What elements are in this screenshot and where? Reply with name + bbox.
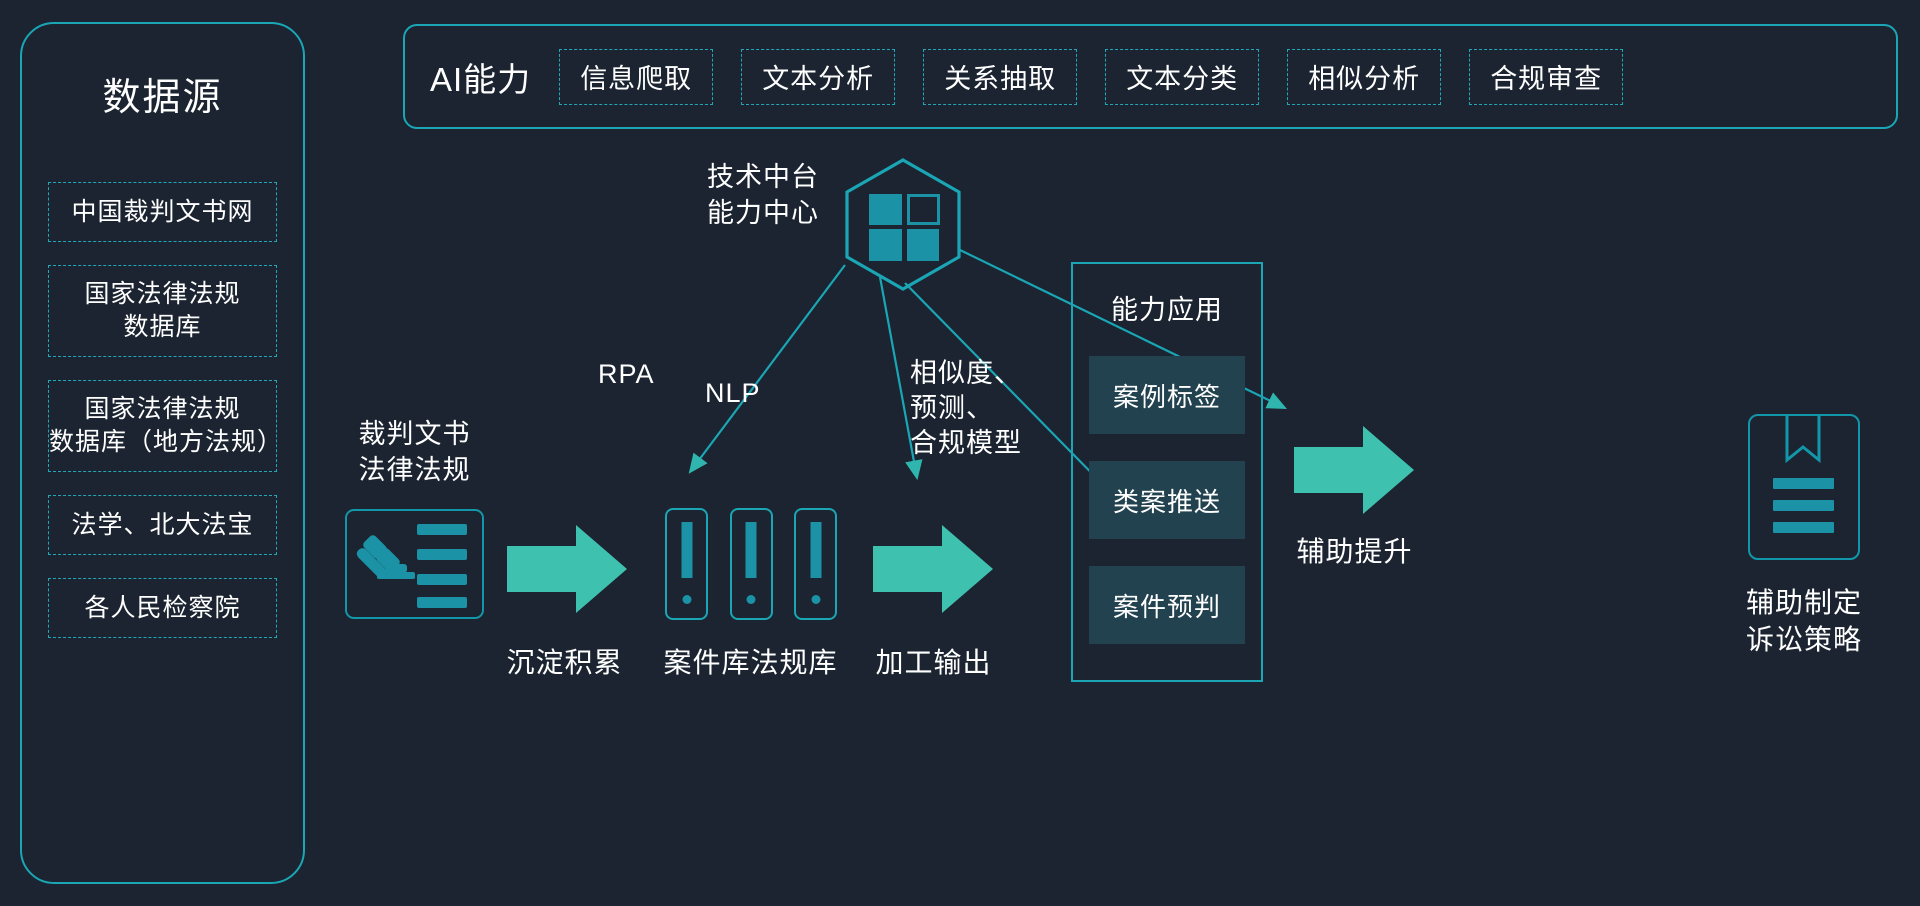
ai-capability-bar: AI能力 信息爬取 文本分析 关系抽取 文本分类 相似分析 合规审查 <box>403 24 1898 129</box>
datasource-panel: 数据源 中国裁判文书网 国家法律法规 数据库 国家法律法规 数据库（地方法规） … <box>20 22 305 884</box>
ai-chip-relation-extraction[interactable]: 关系抽取 <box>923 49 1077 105</box>
edge-label-rpa: RPA <box>598 357 655 392</box>
gavel-document-icon <box>345 509 484 619</box>
server-unit <box>665 508 708 620</box>
datasource-item-label: 国家法律法规 数据库（地方法规） <box>49 393 276 459</box>
list-item[interactable]: 法学、北大法宝 <box>48 495 277 555</box>
server-led <box>811 595 820 604</box>
edge-label-nlp: NLP <box>705 376 761 411</box>
ai-chip-similarity-analysis[interactable]: 相似分析 <box>1287 49 1441 105</box>
ai-chip-text-classification[interactable]: 文本分类 <box>1105 49 1259 105</box>
capability-item-case-tag[interactable]: 案例标签 <box>1089 356 1245 434</box>
list-item[interactable]: 国家法律法规 数据库（地方法规） <box>48 380 277 472</box>
datasource-item-label: 各人民检察院 <box>84 592 240 625</box>
capability-item-similar-case-push[interactable]: 类案推送 <box>1089 461 1245 539</box>
list-item[interactable]: 各人民检察院 <box>48 578 277 638</box>
datasource-item-label: 中国裁判文书网 <box>71 196 253 229</box>
capability-title: 能力应用 <box>1073 288 1261 327</box>
datasource-list: 中国裁判文书网 国家法律法规 数据库 国家法律法规 数据库（地方法规） 法学、北… <box>48 182 277 661</box>
server-unit <box>730 508 773 620</box>
arrow3-caption: 辅助提升 <box>1277 530 1432 570</box>
bookmark-document-icon <box>1748 414 1860 560</box>
arrow1-caption: 沉淀积累 <box>487 641 642 681</box>
stage2-caption: 案件库法规库 <box>648 641 853 681</box>
server-bar <box>810 522 821 578</box>
server-rack-icon <box>665 508 837 620</box>
ai-capability-title: AI能力 <box>430 53 531 101</box>
stage1-caption: 裁判文书 法律法规 <box>345 417 484 489</box>
capability-item-case-prediction[interactable]: 案件预判 <box>1089 566 1245 644</box>
hexagon-grid-icon <box>843 157 963 292</box>
capability-application-panel: 能力应用 案例标签 类案推送 案件预判 <box>1071 262 1263 682</box>
server-led <box>747 595 756 604</box>
datasource-item-label: 国家法律法规 数据库 <box>84 278 240 344</box>
server-bar <box>681 522 692 578</box>
diagram-canvas: 数据源 中国裁判文书网 国家法律法规 数据库 国家法律法规 数据库（地方法规） … <box>0 0 1920 906</box>
edge-label-similarity: 相似度、 预测、 合规模型 <box>910 356 1022 461</box>
arrow2-caption: 加工输出 <box>856 641 1011 681</box>
tech-hub-label: 技术中台 能力中心 <box>688 160 838 232</box>
server-bar <box>746 522 757 578</box>
datasource-title: 数据源 <box>22 66 303 121</box>
ai-chip-compliance-review[interactable]: 合规审查 <box>1469 49 1623 105</box>
server-led <box>682 595 691 604</box>
ai-chip-text-analysis[interactable]: 文本分析 <box>741 49 895 105</box>
ai-chip-info-crawl[interactable]: 信息爬取 <box>559 49 713 105</box>
datasource-item-label: 法学、北大法宝 <box>71 509 253 542</box>
list-item[interactable]: 中国裁判文书网 <box>48 182 277 242</box>
capability-list: 案例标签 类案推送 案件预判 <box>1089 356 1245 671</box>
list-item[interactable]: 国家法律法规 数据库 <box>48 265 277 357</box>
server-unit <box>794 508 837 620</box>
output-caption: 辅助制定 诉讼策略 <box>1724 584 1884 658</box>
